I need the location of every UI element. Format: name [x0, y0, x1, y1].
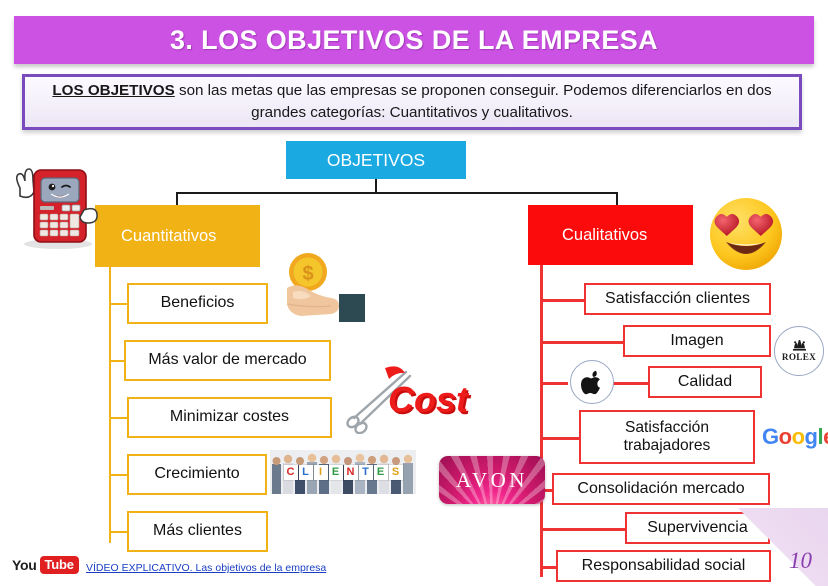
- slide-title-bar: 3. LOS OBJETIVOS DE LA EMPRESA: [14, 16, 814, 64]
- google-letter: g: [805, 424, 818, 449]
- connector-right-drop: [616, 192, 618, 206]
- clientes-letter: C: [284, 465, 298, 480]
- page-number: 10: [789, 548, 812, 574]
- leaf-label: Satisfacción clientes: [605, 290, 750, 308]
- apple-logo: [570, 360, 614, 404]
- leaf-label: Minimizar costes: [170, 408, 289, 426]
- calculator-mascot-icon: [6, 148, 102, 250]
- tick-qual-6: [540, 528, 625, 531]
- video-explicativo-link[interactable]: VÍDEO EXPLICATIVO. Las objetivos de la e…: [86, 562, 326, 574]
- rolex-label: ROLEX: [782, 352, 816, 362]
- clientes-letter: S: [389, 465, 403, 480]
- rolex-logo: ROLEX: [774, 326, 824, 376]
- leaf-quant-minimizar-costes: Minimizar costes: [127, 397, 332, 438]
- root-node-label: OBJETIVOS: [327, 150, 425, 171]
- tick-qual-7: [540, 566, 556, 569]
- google-letter: e: [823, 424, 828, 449]
- leaf-label: Beneficios: [161, 294, 235, 312]
- branch-header-cuantitativos: Cuantitativos: [95, 205, 260, 267]
- tick-qual-3b: [612, 382, 648, 385]
- google-logo: Google: [762, 424, 828, 450]
- tick-qual-3a: [540, 382, 568, 385]
- spine-cuantitativos: [109, 267, 111, 543]
- leaf-quant-beneficios: Beneficios: [127, 283, 268, 324]
- connector-left-drop: [176, 192, 178, 206]
- leaf-label: Crecimiento: [154, 465, 239, 483]
- apple-logo-icon: [581, 370, 604, 395]
- definition-bold-term: LOS OBJETIVOS: [52, 82, 174, 99]
- scissors-cutting-cost-icon: Cost Cost: [344, 362, 499, 434]
- branch-header-label: Cuantitativos: [121, 227, 216, 246]
- leaf-qual-imagen: Imagen: [623, 325, 771, 357]
- tick-qual-2: [540, 341, 623, 344]
- rolex-crown-icon: [792, 340, 807, 351]
- clientes-letter-cards: C L I E N T E S: [284, 465, 403, 480]
- leaf-quant-mas-valor-mercado: Más valor de mercado: [124, 340, 331, 381]
- clientes-letter: L: [299, 465, 313, 480]
- leaf-quant-mas-clientes: Más clientes: [127, 511, 268, 552]
- corner-decoration: [720, 508, 828, 586]
- avon-label: AVON: [456, 468, 528, 493]
- leaf-qual-consolidacion-mercado: Consolidación mercado: [552, 473, 770, 505]
- youtube-logo[interactable]: You Tube: [12, 556, 79, 574]
- definition-text: LOS OBJETIVOS son las metas que las empr…: [41, 80, 783, 123]
- clientes-letter: T: [359, 465, 373, 480]
- youtube-tube-label: Tube: [40, 556, 79, 574]
- svg-text:Cost: Cost: [388, 379, 470, 420]
- heart-eyes-emoji-icon: [708, 196, 784, 272]
- clientes-letter: E: [374, 465, 388, 480]
- clientes-letter: I: [314, 465, 328, 480]
- leaf-label: Más valor de mercado: [148, 351, 306, 369]
- leaf-label: Satisfacción trabajadores: [581, 419, 753, 455]
- connector-horizontal: [176, 192, 618, 194]
- google-letter: G: [762, 424, 779, 449]
- connector-root-stem: [375, 179, 377, 193]
- leaf-qual-satisfaccion-clientes: Satisfacción clientes: [584, 283, 771, 315]
- avon-logo: AVON: [439, 456, 545, 504]
- leaf-quant-crecimiento: Crecimiento: [127, 454, 267, 495]
- page-title: 3. LOS OBJETIVOS DE LA EMPRESA: [170, 25, 658, 56]
- tick-quant-1: [109, 303, 127, 305]
- definition-rest: son las metas que las empresas se propon…: [175, 82, 772, 121]
- tick-qual-1: [540, 299, 584, 302]
- google-letter: o: [779, 424, 792, 449]
- leaf-label: Calidad: [678, 373, 732, 391]
- branch-header-cualitativos: Cualitativos: [528, 205, 693, 265]
- hand-holding-coin-icon: $: [281, 252, 373, 330]
- slide-canvas: 3. LOS OBJETIVOS DE LA EMPRESA LOS OBJET…: [0, 0, 828, 586]
- tick-quant-4: [109, 474, 127, 476]
- definition-box: LOS OBJETIVOS son las metas que las empr…: [22, 74, 802, 130]
- clientes-letter: E: [329, 465, 343, 480]
- leaf-qual-calidad: Calidad: [648, 366, 762, 398]
- leaf-qual-satisfaccion-trabajadores: Satisfacción trabajadores: [579, 410, 755, 464]
- leaf-label: Imagen: [670, 332, 723, 350]
- leaf-label: Consolidación mercado: [577, 480, 744, 498]
- clientes-letter: N: [344, 465, 358, 480]
- clientes-people-photo: C L I E N T E S: [270, 450, 416, 494]
- tick-qual-4: [540, 437, 579, 440]
- google-letter: o: [792, 424, 805, 449]
- youtube-you-label: You: [12, 557, 37, 573]
- root-node-objetivos: OBJETIVOS: [286, 141, 466, 179]
- svg-text:$: $: [302, 263, 313, 285]
- tick-quant-5: [109, 531, 127, 533]
- tick-quant-3: [109, 417, 127, 419]
- leaf-label: Más clientes: [153, 522, 242, 540]
- branch-header-label: Cualitativos: [562, 226, 647, 245]
